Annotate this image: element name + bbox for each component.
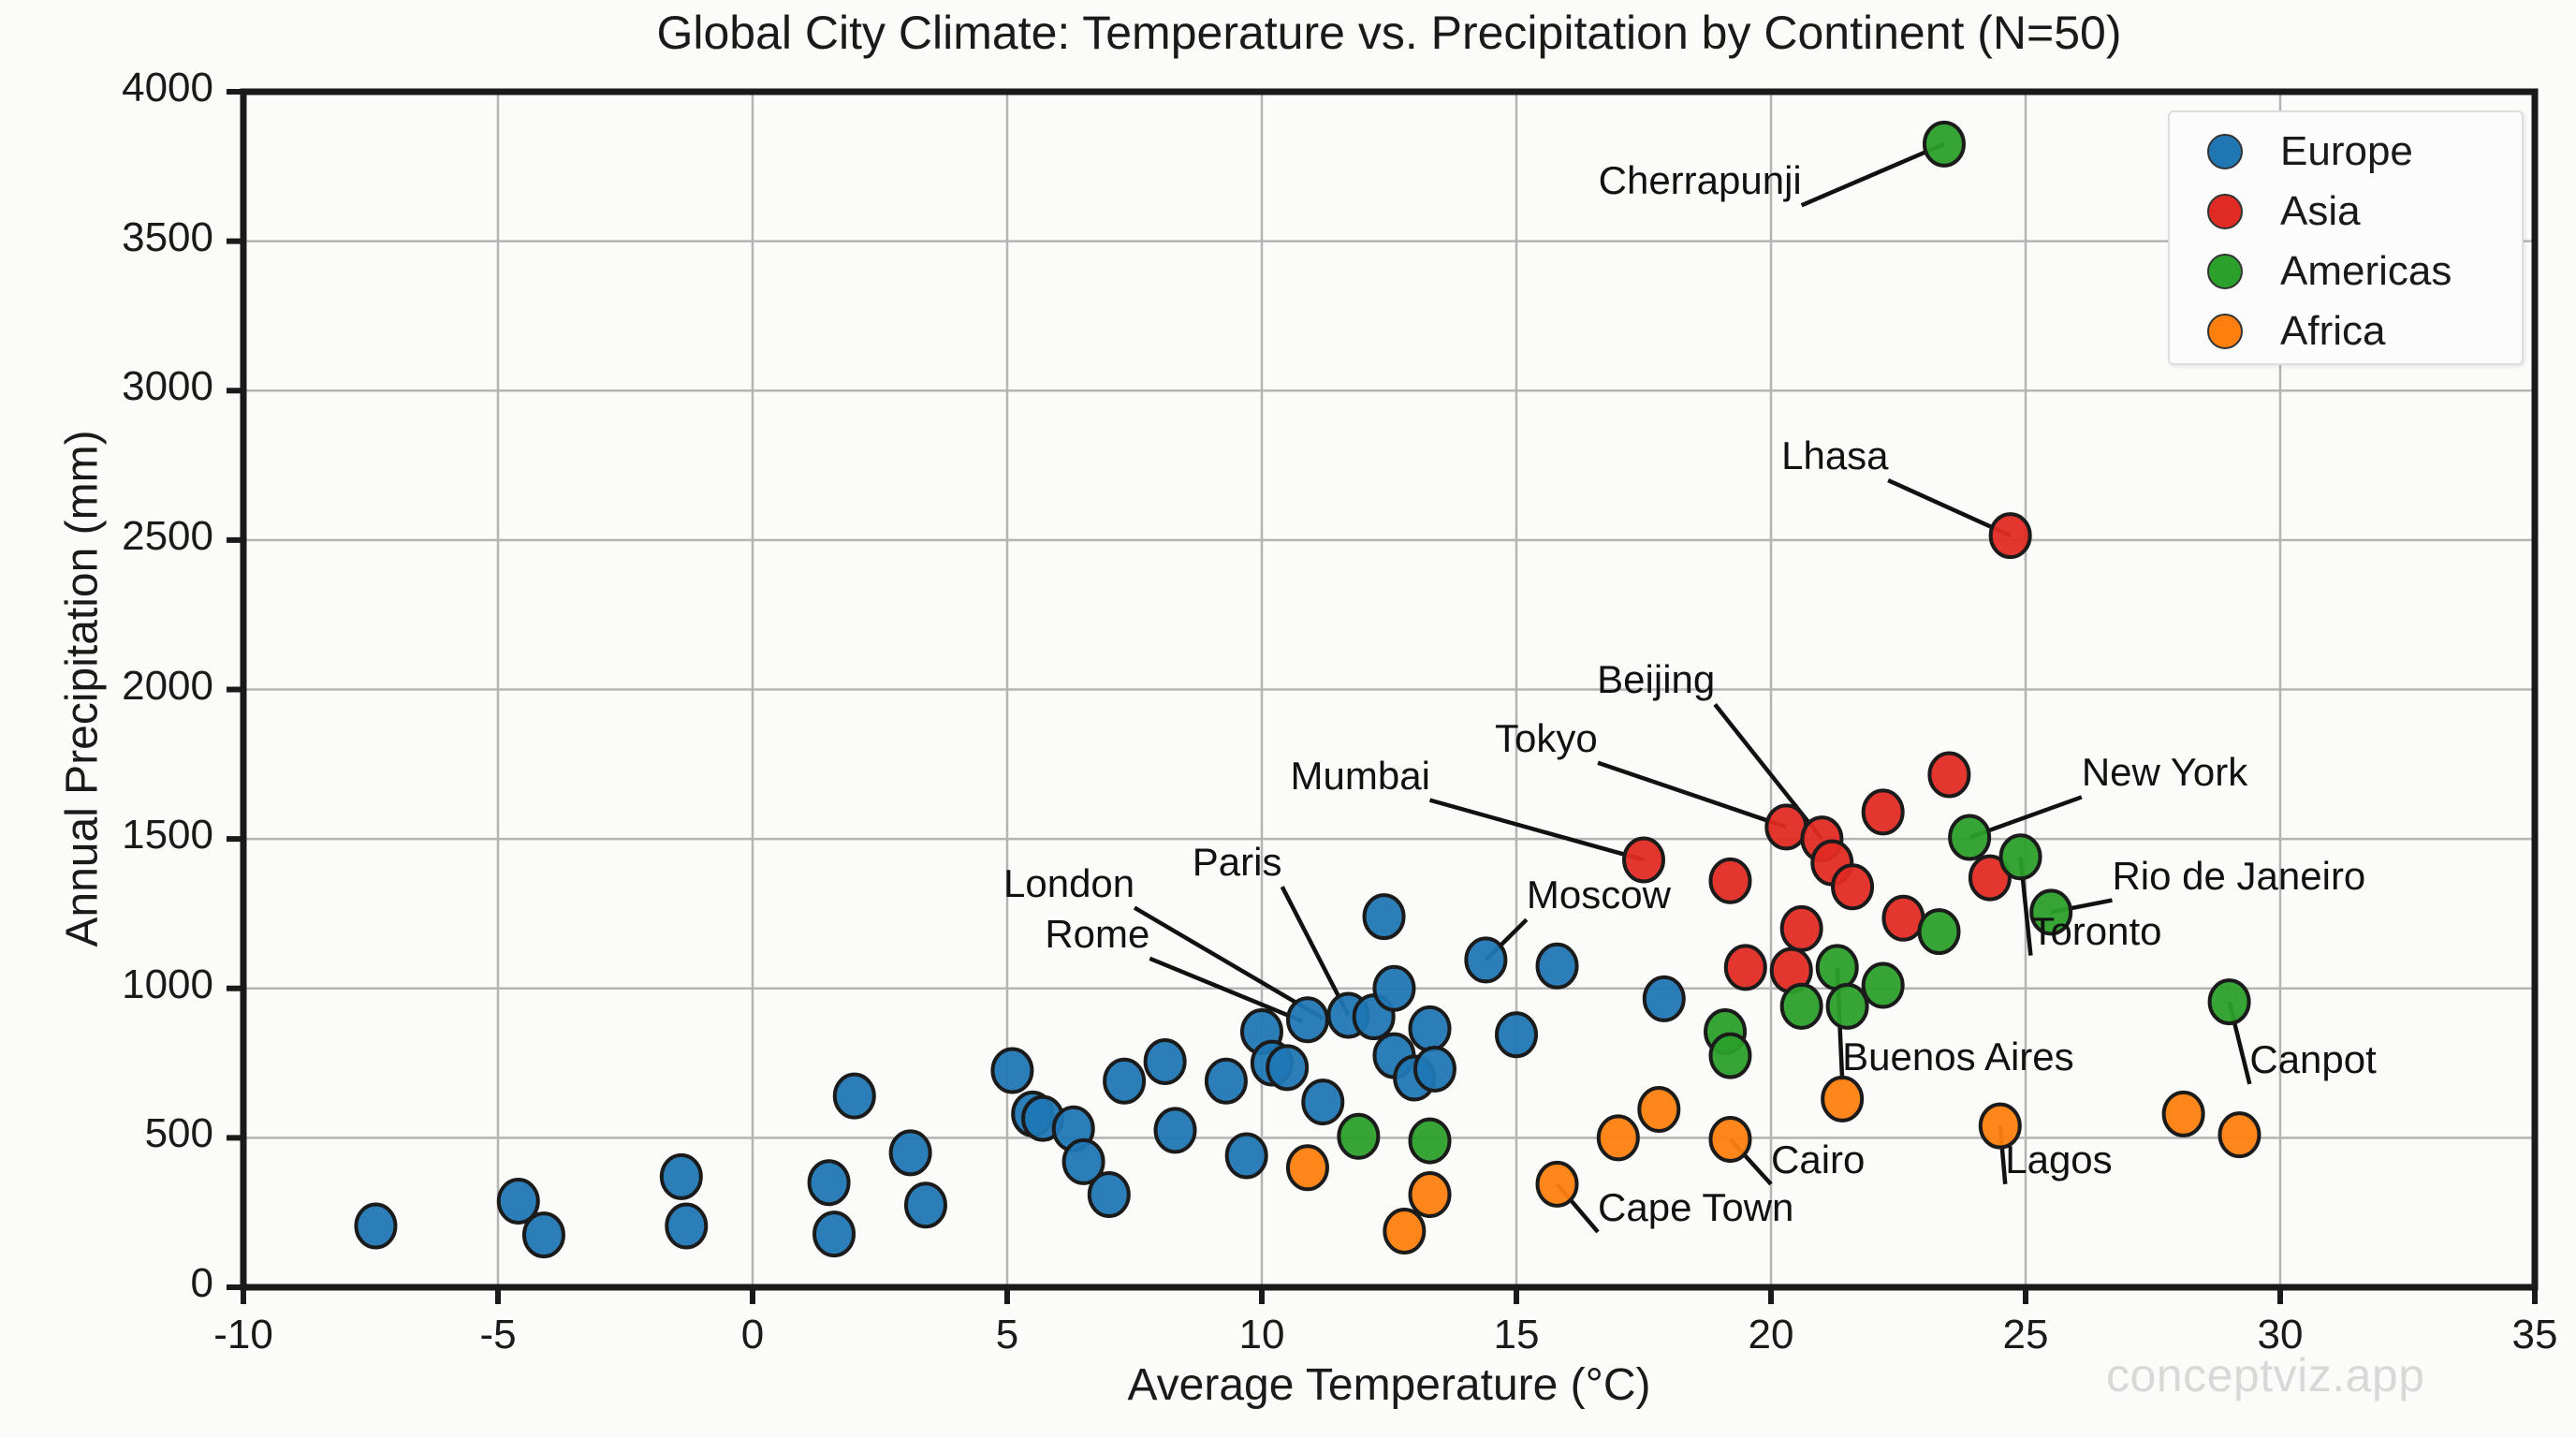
legend-label: Asia	[2280, 188, 2361, 235]
legend-marker-icon	[2207, 314, 2243, 349]
point-label: Buenos Aires	[1842, 1034, 2074, 1079]
data-point-europe[interactable]	[1288, 998, 1327, 1041]
data-point-europe[interactable]	[814, 1212, 854, 1255]
point-label: Paris	[1193, 840, 1282, 885]
x-tick-label: -5	[395, 1312, 601, 1358]
data-point-americas[interactable]	[1710, 1034, 1749, 1078]
data-point-europe[interactable]	[524, 1213, 563, 1256]
data-point-americas[interactable]	[1950, 816, 1989, 859]
legend-marker-icon	[2207, 194, 2243, 229]
legend-item-americas[interactable]: Americas	[2170, 240, 2522, 302]
data-point-europe[interactable]	[1090, 1173, 1129, 1216]
data-point-africa[interactable]	[1384, 1210, 1424, 1253]
data-point-europe[interactable]	[906, 1183, 945, 1226]
data-point-asia[interactable]	[1864, 790, 1903, 833]
point-label: Cape Town	[1598, 1185, 1793, 1230]
y-tick-label: 2500	[9, 513, 213, 560]
data-point-asia[interactable]	[1883, 897, 1923, 940]
data-point-asia[interactable]	[1726, 946, 1765, 989]
y-tick-label: 3500	[9, 214, 213, 261]
legend-label: Americas	[2280, 248, 2452, 295]
data-point-europe[interactable]	[1466, 938, 1505, 981]
data-point-europe[interactable]	[1365, 895, 1404, 938]
point-label: Tokyo	[1495, 716, 1598, 761]
data-point-asia[interactable]	[1766, 805, 1806, 848]
data-point-asia[interactable]	[1782, 907, 1822, 950]
x-tick-label: 35	[2432, 1312, 2576, 1358]
data-point-europe[interactable]	[1538, 945, 1577, 988]
data-point-americas[interactable]	[2001, 835, 2041, 878]
data-point-europe[interactable]	[1105, 1060, 1144, 1103]
legend-label: Africa	[2280, 308, 2385, 355]
point-label: Canpot	[2249, 1037, 2376, 1082]
x-tick-label: 15	[1413, 1312, 1619, 1358]
data-point-europe[interactable]	[1156, 1108, 1195, 1152]
x-tick-label: 20	[1668, 1312, 1874, 1358]
x-tick-label: 25	[1923, 1312, 2129, 1358]
y-tick-label: 1500	[9, 812, 213, 858]
data-point-asia[interactable]	[1929, 753, 1969, 796]
data-point-africa[interactable]	[1538, 1163, 1577, 1206]
data-point-americas[interactable]	[1828, 985, 1867, 1028]
y-tick-label: 2000	[9, 663, 213, 710]
data-point-americas[interactable]	[1920, 910, 1959, 953]
legend-label: Europe	[2280, 128, 2413, 175]
data-point-europe[interactable]	[666, 1205, 706, 1248]
data-point-africa[interactable]	[1822, 1078, 1862, 1121]
y-axis-title: Annual Precipitation (mm)	[57, 277, 109, 1101]
data-point-africa[interactable]	[1710, 1118, 1749, 1161]
chart-figure: Global City Climate: Temperature vs. Pre…	[0, 0, 2576, 1438]
data-point-africa[interactable]	[1639, 1088, 1678, 1131]
point-label: Rome	[1045, 912, 1149, 957]
data-point-europe[interactable]	[1497, 1013, 1536, 1056]
y-tick-label: 1000	[9, 961, 213, 1008]
data-point-asia[interactable]	[1710, 859, 1749, 902]
data-point-africa[interactable]	[1599, 1116, 1638, 1159]
data-point-africa[interactable]	[1288, 1146, 1327, 1189]
data-point-asia[interactable]	[1991, 514, 2030, 557]
data-point-europe[interactable]	[1415, 1048, 1455, 1091]
watermark: conceptviz.app	[2106, 1348, 2425, 1402]
data-point-americas[interactable]	[1339, 1115, 1378, 1158]
data-point-africa[interactable]	[2219, 1113, 2259, 1156]
data-point-europe[interactable]	[1227, 1135, 1266, 1178]
point-label: Mumbai	[1291, 754, 1430, 799]
x-tick-label: 5	[904, 1312, 1110, 1358]
y-tick-label: 0	[9, 1260, 213, 1307]
data-point-americas[interactable]	[1411, 1120, 1450, 1163]
y-tick-label: 4000	[9, 65, 213, 111]
x-tick-label: 0	[650, 1312, 856, 1358]
point-label: New York	[2082, 750, 2247, 795]
legend-marker-icon	[2207, 134, 2243, 169]
data-point-americas[interactable]	[1925, 123, 1964, 166]
data-point-asia[interactable]	[1833, 865, 1872, 908]
point-label: Beijing	[1597, 657, 1715, 702]
data-point-europe[interactable]	[1207, 1060, 1246, 1103]
data-point-europe[interactable]	[1374, 967, 1413, 1010]
y-tick-label: 500	[9, 1110, 213, 1157]
legend-item-africa[interactable]: Africa	[2170, 300, 2522, 362]
legend-item-europe[interactable]: Europe	[2170, 120, 2522, 183]
data-point-europe[interactable]	[992, 1049, 1032, 1093]
point-label: Moscow	[1527, 873, 1671, 917]
data-point-europe[interactable]	[1267, 1046, 1307, 1089]
x-tick-label: 10	[1159, 1312, 1365, 1358]
point-label: Lhasa	[1781, 433, 1888, 478]
data-point-europe[interactable]	[810, 1161, 849, 1204]
data-point-europe[interactable]	[1411, 1007, 1450, 1050]
data-point-europe[interactable]	[1146, 1040, 1185, 1083]
data-point-americas[interactable]	[1818, 946, 1857, 989]
point-label: Toronto	[2030, 909, 2161, 954]
data-point-americas[interactable]	[1864, 964, 1903, 1007]
legend[interactable]: EuropeAsiaAmericasAfrica	[2168, 110, 2524, 365]
data-point-africa[interactable]	[1411, 1173, 1450, 1216]
point-label: Cherrapunji	[1599, 158, 1802, 203]
point-label: Cairo	[1771, 1137, 1865, 1182]
point-label: London	[1003, 861, 1134, 906]
data-point-africa[interactable]	[2164, 1093, 2203, 1136]
data-point-europe[interactable]	[356, 1205, 395, 1248]
data-point-europe[interactable]	[835, 1075, 874, 1118]
data-point-europe[interactable]	[1303, 1080, 1342, 1123]
legend-marker-icon	[2207, 254, 2243, 289]
data-point-americas[interactable]	[1782, 985, 1822, 1028]
data-point-americas[interactable]	[2210, 980, 2249, 1023]
data-point-europe[interactable]	[891, 1131, 930, 1174]
y-tick-label: 3000	[9, 363, 213, 410]
data-point-europe[interactable]	[1645, 977, 1684, 1020]
point-label: Rio de Janeiro	[2112, 854, 2365, 899]
point-label: Lagos	[2005, 1137, 2112, 1182]
x-tick-label: -10	[140, 1312, 346, 1358]
data-point-europe[interactable]	[662, 1155, 701, 1198]
legend-item-asia[interactable]: Asia	[2170, 180, 2522, 242]
